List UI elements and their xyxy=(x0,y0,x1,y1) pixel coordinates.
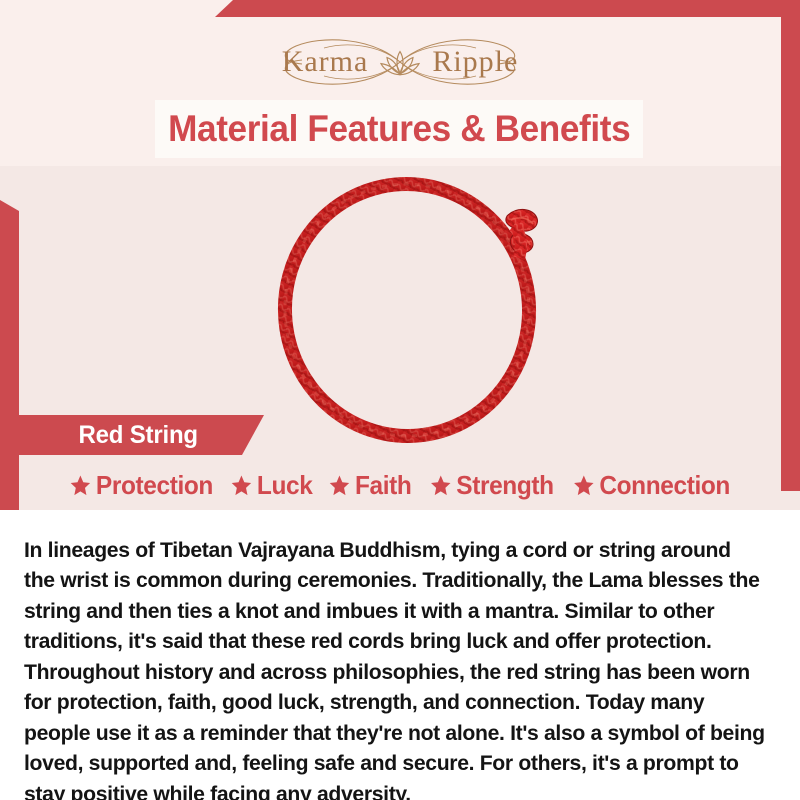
star-icon xyxy=(329,474,351,497)
bracelet-illustration xyxy=(255,170,565,450)
brand-name-right: Ripple xyxy=(432,45,518,79)
feature-item-luck: Luck xyxy=(231,470,313,501)
lotus-icon xyxy=(378,48,422,78)
description-paragraph: In lineages of Tibetan Vajrayana Buddhis… xyxy=(24,535,767,800)
feature-label: Strength xyxy=(456,470,553,501)
star-icon xyxy=(69,474,91,497)
feature-label: Protection xyxy=(96,470,213,501)
feature-label: Luck xyxy=(257,470,313,501)
brand-name-left: Karma xyxy=(282,45,369,79)
star-icon xyxy=(429,474,451,497)
product-image-red-bracelet xyxy=(255,170,565,450)
material-tag-label: Red String xyxy=(78,421,197,450)
feature-item-strength: Strength xyxy=(429,470,553,501)
material-tag: Red String xyxy=(19,415,264,455)
feature-list: Protection Luck Faith Strength Connectio xyxy=(0,464,800,506)
feature-item-faith: Faith xyxy=(329,470,412,501)
bracelet-loop xyxy=(272,172,541,448)
feature-label: Connection xyxy=(600,470,731,501)
page-title: Material Features & Benefits xyxy=(168,108,630,150)
title-panel: Material Features & Benefits xyxy=(155,100,643,158)
feature-label: Faith xyxy=(355,470,412,501)
feature-item-connection: Connection xyxy=(573,470,730,501)
brand-logo: Karma Ripple xyxy=(0,34,800,90)
star-icon xyxy=(231,474,253,497)
star-icon xyxy=(573,474,595,497)
infographic-canvas: Karma Ripple Material Features & Benefit… xyxy=(0,0,800,800)
decorative-bar-top xyxy=(215,0,800,17)
feature-item-protection: Protection xyxy=(69,470,212,501)
brand-logo-inner: Karma Ripple xyxy=(250,34,550,90)
